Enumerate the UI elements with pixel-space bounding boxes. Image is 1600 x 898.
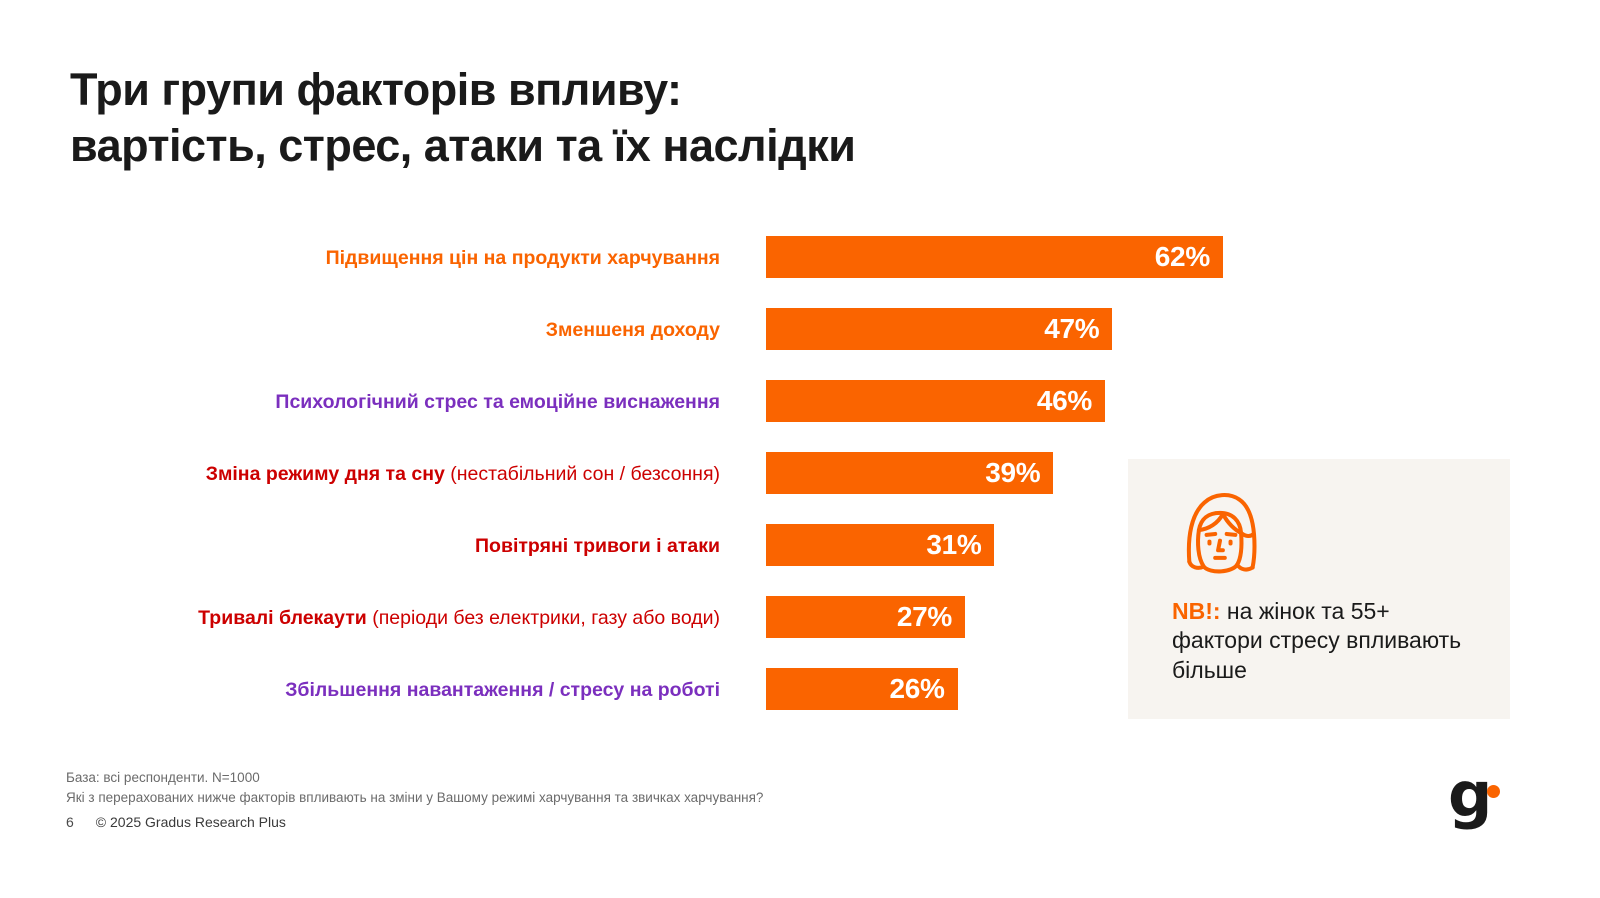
gradus-logo: g <box>1448 772 1518 838</box>
page-title: Три групи факторів впливу: вартість, стр… <box>70 62 1170 175</box>
nb-callout-box: NB!: на жінок та 55+ фактори стресу впли… <box>1128 459 1510 719</box>
bar: 27% <box>766 596 965 638</box>
footnotes: База: всі респонденти. N=1000 Які з пере… <box>66 768 763 807</box>
nb-prefix: NB!: <box>1172 598 1221 624</box>
bar-category-sub: (нестабільний сон / безсоння) <box>445 463 720 485</box>
bar-row: Психологічний стрес та емоційне виснажен… <box>0 366 1600 438</box>
bar-value-label: 47% <box>1044 315 1099 343</box>
bar-category-label: Зміна режиму дня та сну (нестабільний со… <box>60 463 720 485</box>
bar-category-label: Тривалі блекаути (періоди без електрики,… <box>60 607 720 629</box>
bar-track: 46% <box>766 380 1600 422</box>
bar: 39% <box>766 452 1053 494</box>
bar-track: 47% <box>766 308 1600 350</box>
bar-category-label: Підвищення цін на продукти харчування <box>60 247 720 269</box>
bar-category-main: Збільшення навантаження / стресу на робо… <box>285 679 720 701</box>
bar-track: 62% <box>766 236 1600 278</box>
bar-value-label: 39% <box>985 459 1040 487</box>
bar: 46% <box>766 380 1105 422</box>
bar-row: Підвищення цін на продукти харчування62% <box>0 222 1600 294</box>
footer: 6 © 2025 Gradus Research Plus <box>66 814 286 830</box>
bar: 62% <box>766 236 1223 278</box>
bar-category-sub: (періоди без електрики, газу або води) <box>367 607 720 629</box>
footnote-base: База: всі респонденти. N=1000 <box>66 768 763 788</box>
bar-category-main: Психологічний стрес та емоційне виснажен… <box>275 391 720 413</box>
bar: 26% <box>766 668 958 710</box>
bar-category-main: Повітряні тривоги і атаки <box>475 535 720 557</box>
bar-category-main: Зменшеня доходу <box>546 319 720 341</box>
bar-category-label: Повітряні тривоги і атаки <box>60 535 720 557</box>
bar-category-main: Зміна режиму дня та сну <box>206 463 445 485</box>
bar-value-label: 62% <box>1155 243 1210 271</box>
bar-category-label: Психологічний стрес та емоційне виснажен… <box>60 391 720 413</box>
bar-value-label: 31% <box>926 531 981 559</box>
bar-value-label: 27% <box>897 603 952 631</box>
nb-callout-text: NB!: на жінок та 55+ фактори стресу впли… <box>1172 597 1474 685</box>
bar-category-label: Зменшеня доходу <box>60 319 720 341</box>
footnote-question: Які з перерахованих нижче факторів вплив… <box>66 788 763 808</box>
logo-letter: g <box>1448 764 1492 826</box>
bar-category-label: Збільшення навантаження / стресу на робо… <box>60 679 720 701</box>
bar-value-label: 46% <box>1037 387 1092 415</box>
woman-face-icon <box>1172 487 1268 579</box>
logo-dot-icon <box>1487 785 1500 798</box>
copyright-notice: © 2025 Gradus Research Plus <box>96 814 286 830</box>
bar-category-main: Тривалі блекаути <box>198 607 367 629</box>
bar: 47% <box>766 308 1112 350</box>
bar: 31% <box>766 524 994 566</box>
bar-category-main: Підвищення цін на продукти харчування <box>326 247 720 269</box>
page-number: 6 <box>66 814 74 830</box>
bar-row: Зменшеня доходу47% <box>0 294 1600 366</box>
bar-value-label: 26% <box>889 675 944 703</box>
